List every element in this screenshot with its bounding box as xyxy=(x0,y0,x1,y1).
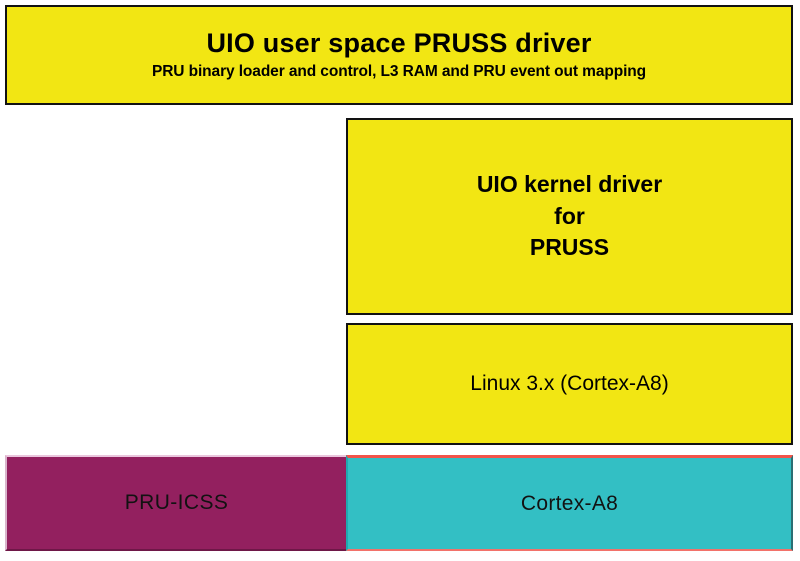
userspace-driver-box: UIO user space PRUSS driver PRU binary l… xyxy=(5,5,793,105)
architecture-diagram: UIO user space PRUSS driver PRU binary l… xyxy=(0,0,800,561)
hardware-bar: PRU-ICSS Cortex-A8 xyxy=(5,455,793,551)
userspace-driver-subtitle: PRU binary loader and control, L3 RAM an… xyxy=(152,63,646,82)
uio-kernel-driver-box: UIO kernel driver for PRUSS xyxy=(346,118,793,315)
cortex-a8-hardware-box: Cortex-A8 xyxy=(346,455,793,551)
cortex-a8-label: Cortex-A8 xyxy=(521,492,618,516)
pru-icss-label: PRU-ICSS xyxy=(125,491,229,515)
uio-kernel-driver-label: UIO kernel driver for PRUSS xyxy=(477,169,662,264)
linux-os-box: Linux 3.x (Cortex-A8) xyxy=(346,323,793,445)
pru-icss-hardware-box: PRU-ICSS xyxy=(5,455,346,551)
userspace-driver-title: UIO user space PRUSS driver xyxy=(206,28,591,58)
linux-os-label: Linux 3.x (Cortex-A8) xyxy=(470,371,668,396)
